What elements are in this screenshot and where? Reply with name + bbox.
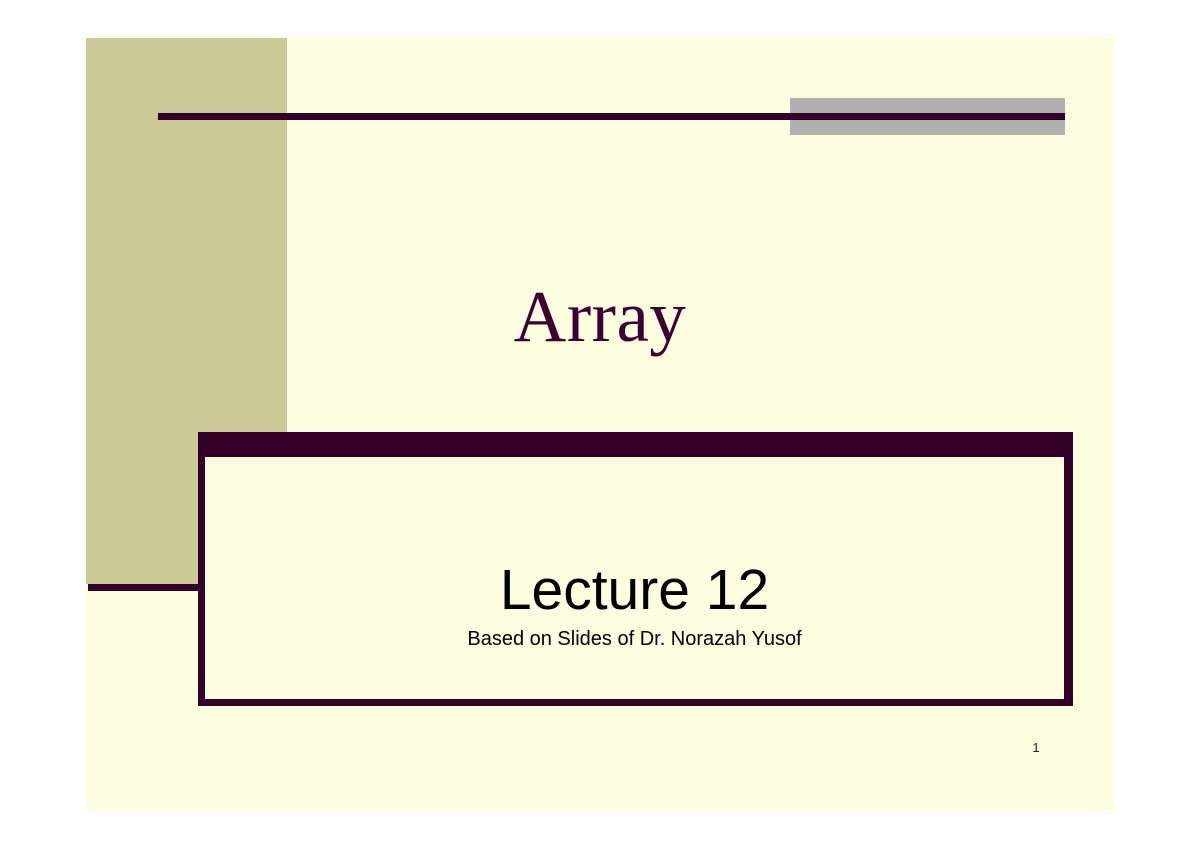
subtitle-frame: Lecture 12 Based on Slides of Dr. Noraza… bbox=[198, 432, 1073, 706]
lecture-heading: Lecture 12 bbox=[500, 558, 769, 622]
presentation-slide: Array Lecture 12 Based on Slides of Dr. … bbox=[86, 38, 1114, 810]
slide-title: Array bbox=[86, 276, 1114, 358]
page-number: 1 bbox=[1016, 740, 1056, 755]
subtitle-content: Lecture 12 Based on Slides of Dr. Noraza… bbox=[205, 457, 1064, 699]
lower-horizontal-rule bbox=[88, 584, 200, 591]
attribution-text: Based on Slides of Dr. Norazah Yusof bbox=[467, 626, 801, 652]
top-horizontal-rule bbox=[158, 113, 1065, 120]
